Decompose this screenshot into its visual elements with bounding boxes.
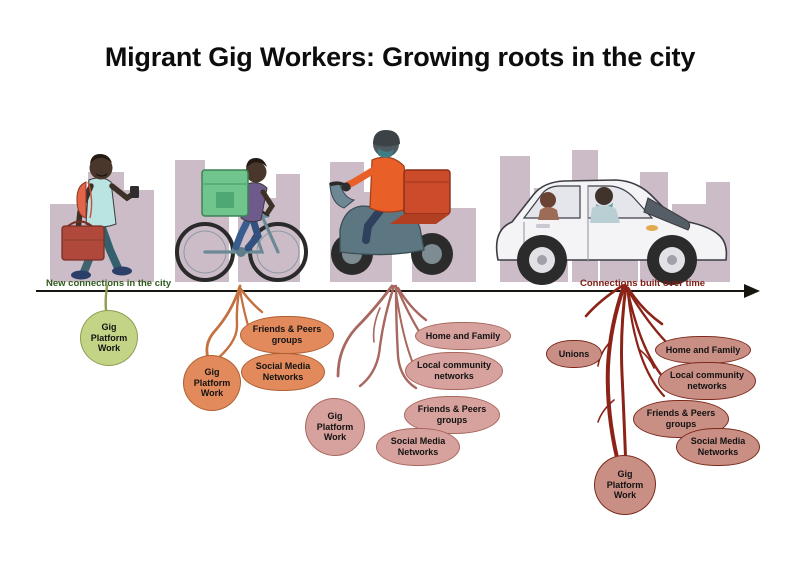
node-line: Work <box>194 388 231 399</box>
node-line: Friends & Peers <box>253 324 322 335</box>
node-gig-platform-work-stage-1[interactable]: Gig Platform Work <box>80 310 138 366</box>
node-line: Platform <box>607 480 644 491</box>
node-line: groups <box>253 335 322 346</box>
node-gig-platform-work-stage-3[interactable]: Gig Platform Work <box>305 398 365 456</box>
node-line: Gig <box>194 367 231 378</box>
node-line: Networks <box>256 372 311 383</box>
node-line: Local community <box>670 370 744 381</box>
node-line: Social Media <box>256 361 311 372</box>
node-line: Social Media <box>391 436 446 447</box>
node-social-media-networks-stage-3[interactable]: Social Media Networks <box>376 428 460 466</box>
node-local-community-networks-stage-4[interactable]: Local community networks <box>658 362 756 400</box>
illustration-band <box>0 112 800 292</box>
node-line: Friends & Peers <box>647 408 716 419</box>
node-line: Platform <box>194 378 231 389</box>
node-line: networks <box>670 381 744 392</box>
node-gig-platform-work-stage-4[interactable]: Gig Platform Work <box>594 455 656 515</box>
node-line: Platform <box>317 422 354 433</box>
node-line: networks <box>417 371 491 382</box>
node-line: Networks <box>691 447 746 458</box>
node-line: Work <box>607 490 644 501</box>
node-line: Friends & Peers <box>418 404 487 415</box>
node-social-media-networks-stage-4[interactable]: Social Media Networks <box>676 428 760 466</box>
node-social-media-networks-stage-2[interactable]: Social Media Networks <box>241 353 325 391</box>
scooter-delivery-rider <box>330 130 453 275</box>
node-line: Gig <box>607 469 644 480</box>
node-line: Networks <box>391 447 446 458</box>
node-line: Unions <box>559 349 590 360</box>
node-line: Work <box>91 343 128 354</box>
node-local-community-networks-stage-3[interactable]: Local community networks <box>405 352 503 390</box>
node-line: Social Media <box>691 436 746 447</box>
page-title: Migrant Gig Workers: Growing roots in th… <box>0 42 800 73</box>
node-line: groups <box>418 415 487 426</box>
node-home-and-family-stage-4[interactable]: Home and Family <box>655 336 751 364</box>
stage-1-roots <box>106 286 107 310</box>
node-line: Home and Family <box>426 331 501 342</box>
node-line: Local community <box>417 360 491 371</box>
node-line: Home and Family <box>666 345 741 356</box>
node-line: Gig <box>317 411 354 422</box>
node-line: Gig <box>91 322 128 333</box>
node-line: Work <box>317 432 354 443</box>
node-line: Platform <box>91 333 128 344</box>
node-unions-stage-4[interactable]: Unions <box>546 340 602 368</box>
node-friends-peers-groups-stage-2[interactable]: Friends & Peers groups <box>240 316 334 354</box>
infographic-canvas: Migrant Gig Workers: Growing roots in th… <box>0 0 800 569</box>
node-gig-platform-work-stage-2[interactable]: Gig Platform Work <box>183 355 241 411</box>
node-home-and-family-stage-3[interactable]: Home and Family <box>415 322 511 350</box>
